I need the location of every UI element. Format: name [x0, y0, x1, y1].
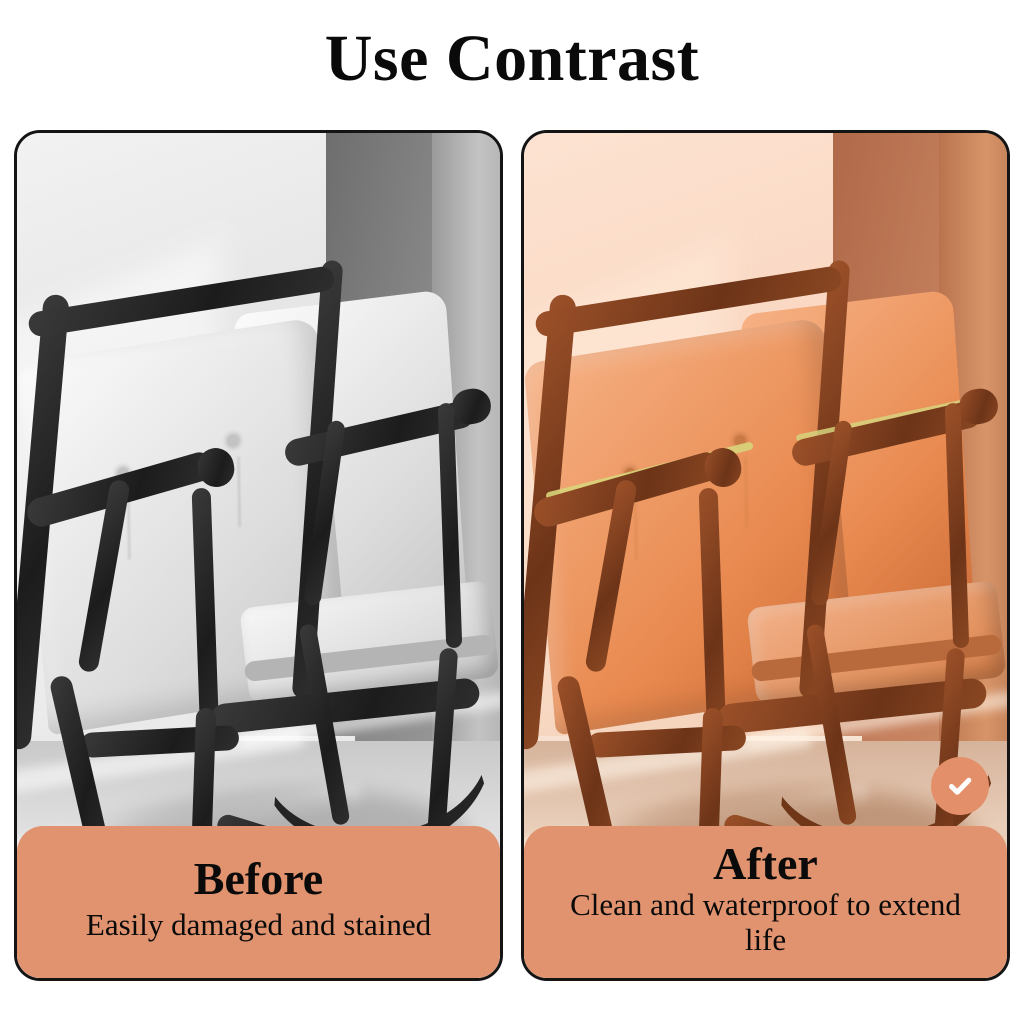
after-caption-title: After [713, 840, 818, 888]
after-caption-subtitle: Clean and waterproof to extend life [547, 888, 983, 957]
comparison-graphic: Use Contrast [0, 0, 1024, 1024]
after-caption: After Clean and waterproof to extend lif… [524, 826, 1007, 978]
check-icon [943, 769, 977, 803]
cushion-seam [238, 457, 241, 528]
cushion-seam [745, 457, 748, 528]
before-caption: Before Easily damaged and stained [17, 826, 500, 978]
before-caption-title: Before [194, 855, 323, 903]
cushion-tuft [228, 434, 240, 447]
page-title: Use Contrast [0, 26, 1024, 92]
before-caption-subtitle: Easily damaged and stained [86, 908, 431, 943]
check-badge [931, 757, 989, 815]
before-panel: Before Easily damaged and stained [14, 130, 503, 981]
after-panel: After Clean and waterproof to extend lif… [521, 130, 1010, 981]
